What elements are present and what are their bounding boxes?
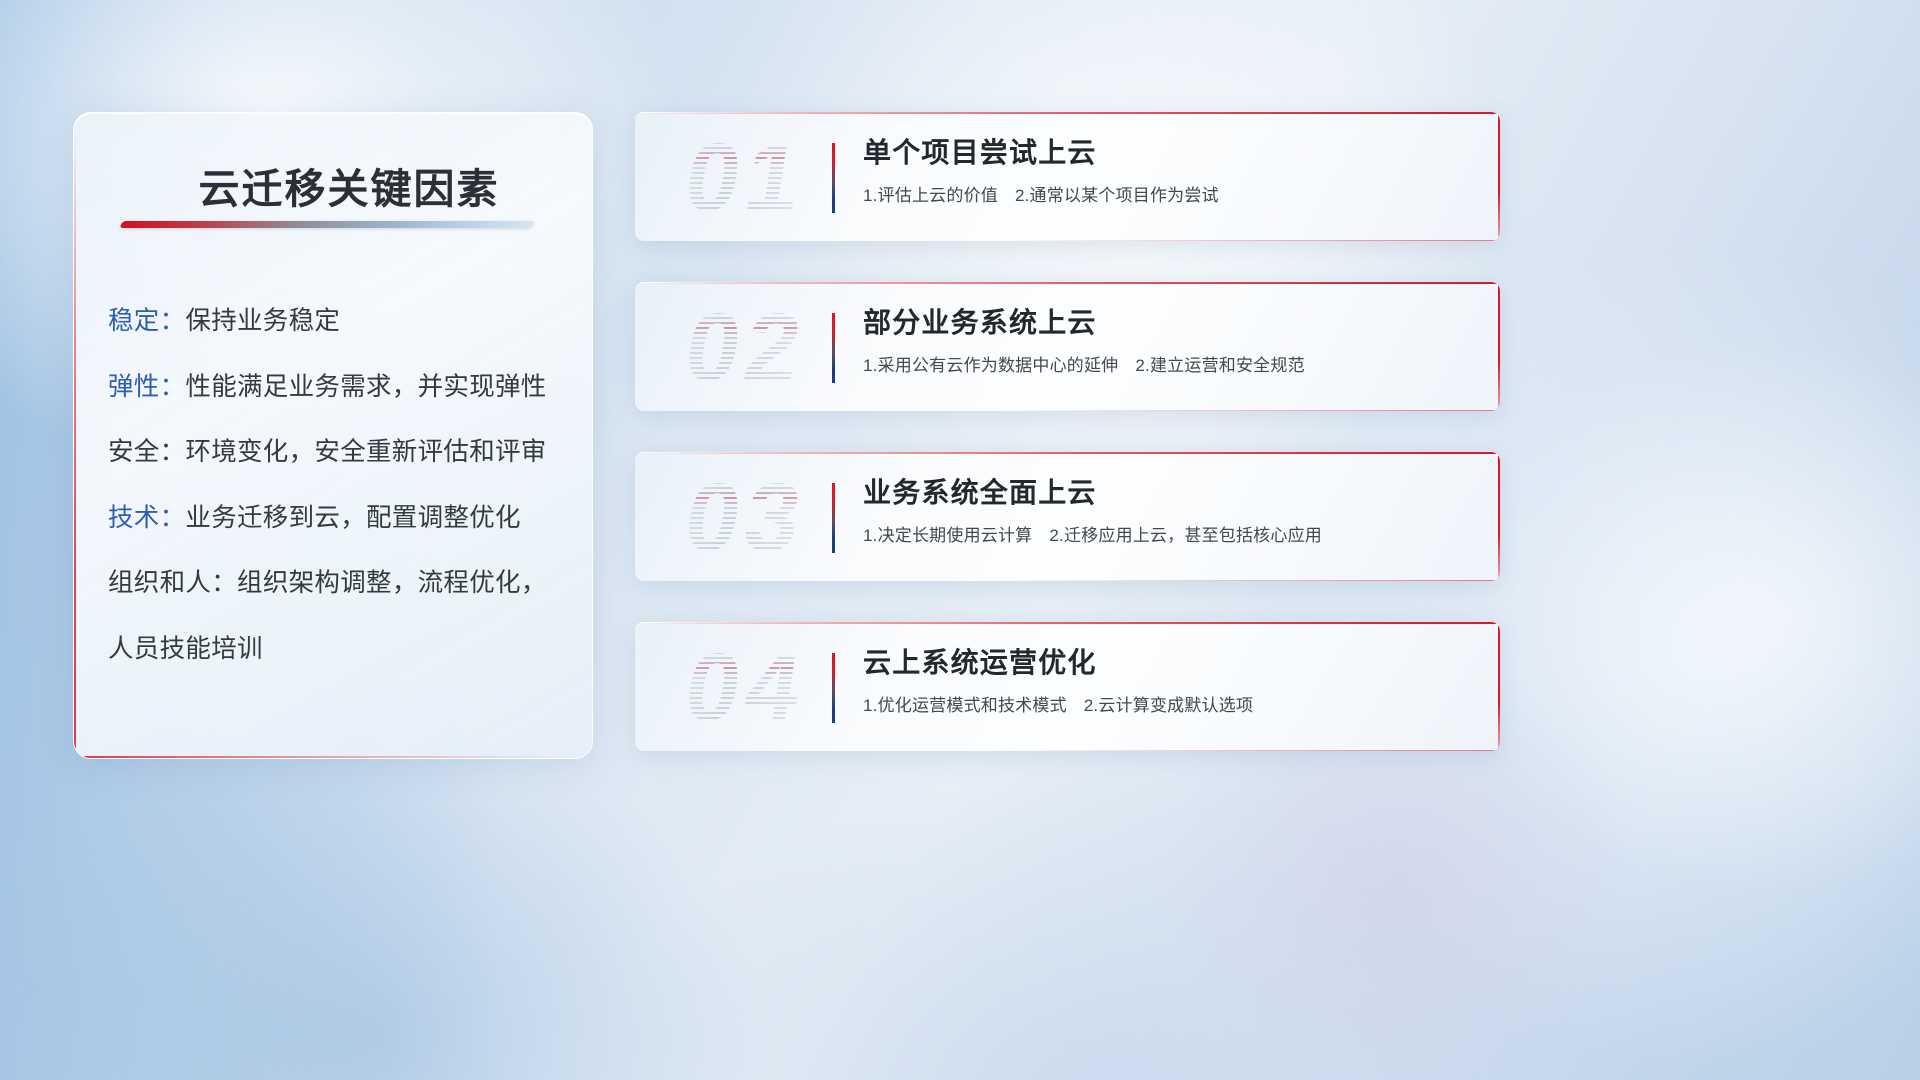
key-factors-list: 稳定：保持业务稳定 弹性：性能满足业务需求，并实现弹性 安全：环境变化，安全重新… — [108, 309, 570, 702]
card-divider-bar — [832, 313, 835, 383]
stage-number-red-highlight: 01 — [652, 122, 840, 234]
list-item-label: 组织和人： — [108, 569, 237, 597]
stage-card-01[interactable]: 01 01 单个项目尝试上云 1.评估上云的价值2.通常以某个项目作为尝试 — [635, 112, 1500, 241]
list-item: 技术：业务迁移到云，配置调整优化 — [108, 506, 570, 532]
card-body: 部分业务系统上云 1.采用公有云作为数据中心的延伸2.建立运营和安全规范 — [863, 306, 1474, 376]
title-underline-accent — [119, 221, 534, 228]
card-description-part-1: 1.优化运营模式和技术模式 — [863, 696, 1067, 715]
stage-card-04[interactable]: 04 04 云上系统运营优化 1.优化运营模式和技术模式2.云计算变成默认选项 — [635, 622, 1500, 751]
card-description-part-1: 1.采用公有云作为数据中心的延伸 — [863, 356, 1118, 375]
card-bottom-accent-line — [998, 240, 1500, 242]
card-bottom-accent-line — [998, 580, 1500, 582]
list-item-text: 业务迁移到云，配置调整优化 — [185, 504, 520, 532]
list-item-text: 性能满足业务需求，并实现弹性 — [185, 373, 546, 401]
card-description-part-2: 2.建立运营和安全规范 — [1135, 356, 1304, 375]
list-item: 稳定：保持业务稳定 — [108, 309, 570, 335]
list-item-label: 稳定： — [108, 307, 185, 335]
card-top-accent-line — [641, 112, 1500, 114]
card-body: 单个项目尝试上云 1.评估上云的价值2.通常以某个项目作为尝试 — [863, 136, 1474, 206]
card-description: 1.采用公有云作为数据中心的延伸2.建立运营和安全规范 — [863, 356, 1474, 376]
card-bottom-accent-line — [998, 410, 1500, 412]
list-item-text: 人员技能培训 — [108, 635, 263, 663]
card-divider-bar — [832, 653, 835, 723]
card-description-part-1: 1.决定长期使用云计算 — [863, 526, 1032, 545]
card-top-accent-line — [641, 622, 1500, 624]
card-description-part-2: 2.通常以某个项目作为尝试 — [1015, 186, 1219, 205]
panel-left-accent-edge — [74, 133, 76, 750]
list-item: 组织和人：组织架构调整，流程优化， — [108, 571, 570, 597]
slide-stage: 云迁移关键因素 稳定：保持业务稳定 弹性：性能满足业务需求，并实现弹性 安全：环… — [0, 0, 1920, 1080]
list-item-text: 组织架构调整，流程优化， — [237, 569, 547, 597]
card-description-part-2: 2.云计算变成默认选项 — [1084, 696, 1253, 715]
list-item-text: 保持业务稳定 — [185, 307, 340, 335]
stage-card-03[interactable]: 03 03 业务系统全面上云 1.决定长期使用云计算2.迁移应用上云，甚至包括核… — [635, 452, 1500, 581]
key-factors-panel: 云迁移关键因素 稳定：保持业务稳定 弹性：性能满足业务需求，并实现弹性 安全：环… — [73, 112, 593, 759]
card-divider-bar — [832, 143, 835, 213]
list-item-label: 弹性： — [108, 373, 185, 401]
stage-number-red-highlight: 03 — [652, 462, 840, 574]
card-title: 业务系统全面上云 — [863, 476, 1474, 510]
page-title: 云迁移关键因素 — [159, 155, 539, 215]
card-body: 云上系统运营优化 1.优化运营模式和技术模式2.云计算变成默认选项 — [863, 646, 1474, 716]
list-item-text: 环境变化，安全重新评估和评审 — [185, 438, 546, 466]
card-title: 单个项目尝试上云 — [863, 136, 1474, 170]
card-right-accent-line — [1498, 112, 1500, 241]
card-top-accent-line — [641, 282, 1500, 284]
card-description-part-2: 2.迁移应用上云，甚至包括核心应用 — [1049, 526, 1322, 545]
stage-number-red-highlight: 02 — [652, 292, 840, 404]
card-title: 云上系统运营优化 — [863, 646, 1474, 680]
stage-card-02[interactable]: 02 02 部分业务系统上云 1.采用公有云作为数据中心的延伸2.建立运营和安全… — [635, 282, 1500, 411]
card-title: 部分业务系统上云 — [863, 306, 1474, 340]
list-item: 安全：环境变化，安全重新评估和评审 — [108, 440, 570, 466]
card-body: 业务系统全面上云 1.决定长期使用云计算2.迁移应用上云，甚至包括核心应用 — [863, 476, 1474, 546]
card-bottom-accent-line — [998, 750, 1500, 752]
card-right-accent-line — [1498, 452, 1500, 581]
card-top-accent-line — [641, 452, 1500, 454]
card-right-accent-line — [1498, 282, 1500, 411]
card-divider-bar — [832, 483, 835, 553]
card-description-part-1: 1.评估上云的价值 — [863, 186, 998, 205]
migration-stage-card-list: 01 01 单个项目尝试上云 1.评估上云的价值2.通常以某个项目作为尝试 02… — [635, 112, 1500, 792]
panel-bottom-accent-edge — [76, 756, 566, 758]
stage-number-red-highlight: 04 — [652, 632, 840, 744]
list-item: 人员技能培训 — [108, 637, 570, 663]
list-item-label: 安全： — [108, 438, 185, 466]
card-description: 1.决定长期使用云计算2.迁移应用上云，甚至包括核心应用 — [863, 526, 1474, 546]
list-item: 弹性：性能满足业务需求，并实现弹性 — [108, 375, 570, 401]
card-description: 1.评估上云的价值2.通常以某个项目作为尝试 — [863, 186, 1474, 206]
card-description: 1.优化运营模式和技术模式2.云计算变成默认选项 — [863, 696, 1474, 716]
card-right-accent-line — [1498, 622, 1500, 751]
list-item-label: 技术： — [108, 504, 185, 532]
